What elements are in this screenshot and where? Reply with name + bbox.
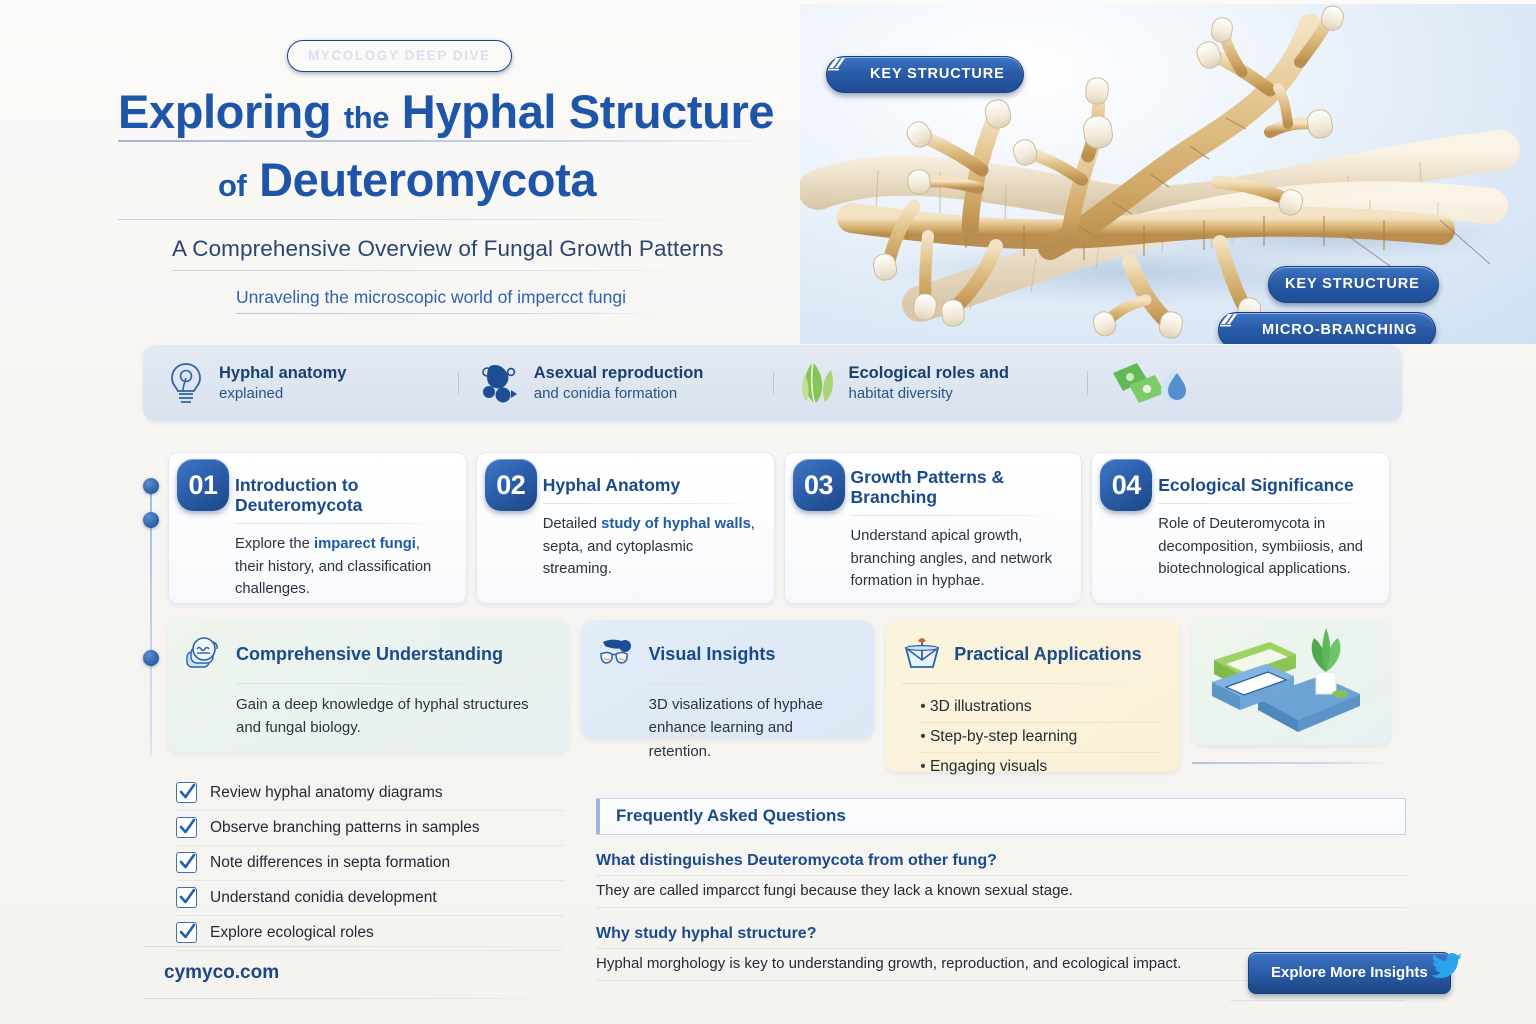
card-number: 02 [485,459,537,511]
timeline-dot-3 [143,650,159,666]
checkbox-checked-icon[interactable] [176,887,197,908]
faq-question[interactable]: Why study hyphal structure? [596,925,1406,948]
subtitle-divider [172,270,705,271]
checkbox-checked-icon[interactable] [176,852,197,873]
benefit-title: Visual Insights [649,644,776,665]
title-rule [118,140,778,142]
timeline-dot-1 [143,478,159,494]
explore-more-insights-button[interactable]: Explore More Insights [1248,952,1451,994]
card-body-line2: their history, and classification challe… [235,559,431,597]
glasses-icon [597,634,637,674]
feature-money-droplet[interactable] [1087,359,1402,407]
footer-rule-bottom [143,998,583,999]
card-body: Explore the imparect fungi, their histor… [235,533,450,600]
hero-illustration: KEY STRUCTURE KEY STRUCTURE MICRO-BRANCH… [800,4,1536,344]
card-04-ecological-significance[interactable]: 04 Ecological Significance Role of Deute… [1091,452,1390,604]
benefit-card-visual-insights[interactable]: Visual Insights 3D visalizations of hyph… [581,620,875,738]
card-rule [1158,503,1373,504]
benefit-title: Comprehensive Understanding [236,644,503,665]
spore-cluster-icon [480,360,522,406]
card-number: 01 [177,459,229,511]
checklist: Review hyphal anatomy diagrams Observe b… [176,776,564,951]
feature-text: Asexual reproduction and conidia formati… [534,363,704,403]
card-body-pre: Understand apical growth, [851,528,1023,544]
basket-icon [902,634,942,674]
feature-asexual-reproduction[interactable]: Asexual reproduction and conidia formati… [458,360,773,406]
faq-question[interactable]: What distinguishes Deuteromycota from ot… [596,852,1406,875]
badge-label: MICRO-BRANCHING [1262,322,1417,338]
checkbox-checked-icon[interactable] [176,922,197,943]
card-03-growth-patterns[interactable]: 03 Growth Patterns & Branching Understan… [784,452,1083,604]
benefit-rule [902,683,1162,684]
list-item: Step-by-step learning [920,723,1162,753]
badge-label: KEY STRUCTURE [1285,276,1420,292]
feature-line2: and conidia formation [534,385,677,402]
title-rule-2 [118,219,703,220]
money-droplet-icon [1109,359,1193,407]
card-number: 03 [793,459,845,511]
benefit-rule [649,683,857,684]
card-body: Detailed study of hyphal walls, septa, a… [543,513,758,580]
checkbox-checked-icon[interactable] [176,782,197,803]
feature-line1: Ecological roles and [849,364,1009,382]
feature-line1: Hyphal anatomy [219,364,346,382]
card-number: 04 [1100,459,1152,511]
benefit-title: Practical Applications [954,644,1141,665]
card-body: Role of Deuteromycota in decomposition, … [1158,513,1373,580]
footer-rule-top [143,946,583,947]
leaf-icon [795,360,837,406]
card-title: Ecological Significance [1158,465,1373,495]
timeline-dot-2 [143,512,159,528]
card-title: Growth Patterns & Branching [851,465,1066,507]
tagline: Unraveling the microscopic world of impe… [236,287,626,308]
page-title: Exploring the Hyphal Structure of Deuter… [118,88,798,220]
checklist-label: Understand conidia development [210,889,437,907]
badge-label: KEY STRUCTURE [870,66,1005,82]
list-item: 3D illustrations [920,693,1162,723]
title-word-of: of [218,168,246,203]
benefit-cards-row: Comprehensive Understanding Gain a deep … [168,620,1390,772]
checklist-label: Review hyphal anatomy diagrams [210,784,443,802]
title-word-exploring: Exploring [118,85,331,138]
tagline-divider [236,313,662,314]
card-title: Introduction to Deuteromycota [235,465,450,515]
numbered-cards-row: 01 Introduction to Deuteromycota Explore… [168,452,1390,604]
checkbox-checked-icon[interactable] [176,817,197,838]
feature-line2: habitat diversity [849,385,953,402]
books-and-plant-illustration [1192,620,1390,745]
benefit-bullet-list: 3D illustrations Step-by-step learning E… [902,693,1162,782]
feature-hyphal-anatomy[interactable]: Hyphal anatomy explained [143,360,458,406]
lightbulb-icon [165,360,207,406]
hero-badge-micro-branching[interactable]: MICRO-BRANCHING [1218,312,1436,344]
benefit-body: Gain a deep knowledge of hyphal structur… [184,693,551,740]
checklist-item[interactable]: Understand conidia development [176,881,564,916]
title-word-hyphal-structure: Hyphal Structure [402,85,774,138]
flag-icon [843,67,861,81]
card-body-post: , [416,536,420,552]
faq-answer: They are called imparcct fungi because t… [596,875,1406,908]
benefit-card-practical-applications[interactable]: Practical Applications 3D illustrations … [886,620,1180,772]
checklist-item[interactable]: Observe branching patterns in samples [176,811,564,846]
card-body: Understand apical growth, branching angl… [851,525,1066,592]
feature-text: Hyphal anatomy explained [219,363,346,403]
card-rule [851,515,1066,516]
checklist-item[interactable]: Note differences in septa formation [176,846,564,881]
feature-strip: Hyphal anatomy explained Asexual reprodu… [143,345,1402,421]
benefit-head: Practical Applications [902,634,1162,674]
benefit-head: Comprehensive Understanding [184,634,551,674]
flag-icon [1235,323,1253,337]
card-01-introduction[interactable]: 01 Introduction to Deuteromycota Explore… [168,452,467,604]
card-body-post: , [751,516,755,532]
checklist-item[interactable]: Review hyphal anatomy diagrams [176,776,564,811]
title-word-deuteromycota: Deuteromycota [259,153,596,206]
site-url[interactable]: cymyco.com [164,962,279,984]
side-image-rule [1192,762,1388,764]
twitter-icon[interactable] [1430,952,1464,982]
hero-badge-key-structure-right[interactable]: KEY STRUCTURE [1268,266,1439,303]
card-02-hyphal-anatomy[interactable]: 02 Hyphal Anatomy Detailed study of hyph… [476,452,775,604]
card-body-line2: branching angles, and network formation … [851,551,1053,589]
feature-text: Ecological roles and habitat diversity [849,363,1009,403]
benefit-body: 3D visalizations of hyphae enhance learn… [597,693,857,763]
subtitle: A Comprehensive Overview of Fungal Growt… [172,236,724,262]
card-body-pre: Detailed [543,516,601,532]
checklist-label: Note differences in septa formation [210,854,450,872]
feature-ecological-roles[interactable]: Ecological roles and habitat diversity [773,360,1088,406]
benefit-rule [236,683,551,684]
faq-heading: Frequently Asked Questions [596,798,1406,835]
card-body-pre: Role of Deuteromycota in [1158,516,1325,532]
feature-line1: Asexual reproduction [534,364,704,382]
card-body-pre: Explore the [235,536,314,552]
infographic-page: KEY STRUCTURE KEY STRUCTURE MICRO-BRANCH… [0,0,1536,1024]
card-body-highlight: study of hyphal walls [601,516,751,532]
card-rule [235,523,450,524]
benefit-head: Visual Insights [597,634,857,674]
chat-stack-icon [184,634,224,674]
feature-line2: explained [219,385,283,402]
card-body-line2: septa, and cytoplasmic streaming. [543,539,694,577]
checklist-label: Observe branching patterns in samples [210,819,480,837]
list-item: Engaging visuals [920,753,1162,782]
card-body-line2: decomposition, symbiiosis, and biotechno… [1158,539,1363,577]
card-title: Hyphal Anatomy [543,465,758,495]
eyebrow-badge: MYCOLOGY DEEP DIVE [287,40,512,72]
cta-rule [1230,1000,1405,1001]
card-rule [543,503,758,504]
hero-badge-key-structure-top[interactable]: KEY STRUCTURE [826,56,1024,93]
title-word-the: the [344,100,389,135]
card-body-highlight: imparect fungi [314,536,416,552]
checklist-label: Explore ecological roles [210,924,374,942]
benefit-card-comprehensive-understanding[interactable]: Comprehensive Understanding Gain a deep … [168,620,569,752]
